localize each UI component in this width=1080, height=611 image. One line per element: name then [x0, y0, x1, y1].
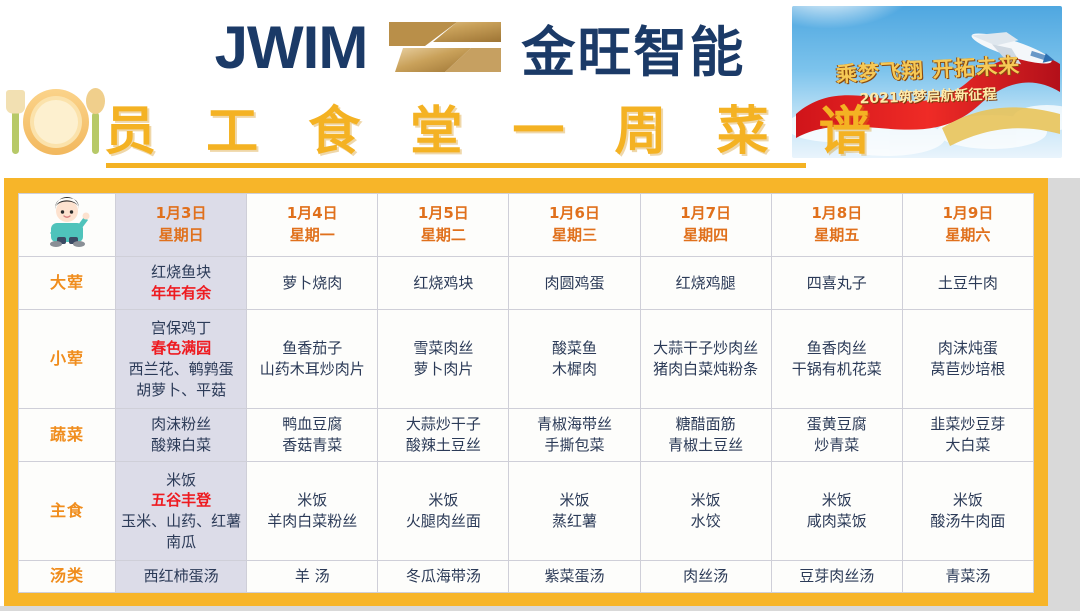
- menu-item: 五谷丰登: [118, 490, 244, 511]
- menu-cell: 蛋黄豆腐炒青菜: [771, 409, 902, 462]
- header-weekday: 星期日: [118, 225, 244, 247]
- table-header-row: 1月3日星期日1月4日星期一1月5日星期二1月6日星期三1月7日星期四1月8日星…: [19, 194, 1034, 257]
- row-label-5: 汤类: [19, 561, 116, 593]
- column-header-3: 1月5日星期二: [378, 194, 509, 257]
- menu-item: 肉沫炖蛋: [905, 338, 1031, 359]
- row-label-text: 小荤: [50, 349, 84, 368]
- row-label-2: 小荤: [19, 310, 116, 409]
- menu-item: 糖醋面筋: [643, 414, 769, 435]
- menu-cell: 鱼香肉丝干锅有机花菜: [771, 310, 902, 409]
- header-weekday: 星期一: [249, 225, 375, 247]
- menu-item: 四喜丸子: [774, 273, 900, 294]
- menu-cell: 宫保鸡丁春色满园西兰花、鹌鹑蛋胡萝卜、平菇: [116, 310, 247, 409]
- column-header-5: 1月7日星期四: [640, 194, 771, 257]
- column-header-6: 1月8日星期五: [771, 194, 902, 257]
- menu-item: 红烧鸡腿: [643, 273, 769, 294]
- table-row: 汤类西红柿蛋汤羊 汤冬瓜海带汤紫菜蛋汤肉丝汤豆芽肉丝汤青菜汤: [19, 561, 1034, 593]
- menu-cell: 青椒海带丝手撕包菜: [509, 409, 640, 462]
- menu-item: 米饭: [249, 490, 375, 511]
- menu-cell: 米饭火腿肉丝面: [378, 462, 509, 561]
- row-label-3: 蔬菜: [19, 409, 116, 462]
- menu-item: 木樨肉: [511, 359, 637, 380]
- menu-cell: 米饭酸汤牛肉面: [902, 462, 1033, 561]
- menu-item: 土豆牛肉: [905, 273, 1031, 294]
- brand-chinese-name: 金旺智能: [521, 8, 745, 87]
- header-date: 1月9日: [905, 203, 1031, 225]
- table-row: 小荤宫保鸡丁春色满园西兰花、鹌鹑蛋胡萝卜、平菇鱼香茄子山药木耳炒肉片雪菜肉丝萝卜…: [19, 310, 1034, 409]
- menu-cell: 米饭五谷丰登玉米、山药、红薯南瓜: [116, 462, 247, 561]
- menu-cell: 米饭羊肉白菜粉丝: [247, 462, 378, 561]
- menu-cell: 雪菜肉丝萝卜肉片: [378, 310, 509, 409]
- header-date: 1月5日: [380, 203, 506, 225]
- row-label-4: 主食: [19, 462, 116, 561]
- header-date: 1月4日: [249, 203, 375, 225]
- table-row: 蔬菜肉沫粉丝酸辣白菜鸭血豆腐香菇青菜大蒜炒干子酸辣土豆丝青椒海带丝手撕包菜糖醋面…: [19, 409, 1034, 462]
- menu-cell: 萝卜烧肉: [247, 257, 378, 310]
- menu-item: 水饺: [643, 511, 769, 532]
- child-chef-icon: [44, 197, 90, 247]
- header-weekday: 星期四: [643, 225, 769, 247]
- menu-item: 羊 汤: [249, 566, 375, 587]
- menu-cell: 红烧鸡腿: [640, 257, 771, 310]
- menu-item: 西红柿蛋汤: [118, 566, 244, 587]
- menu-item: 胡萝卜、平菇: [118, 380, 244, 401]
- menu-item: 羊肉白菜粉丝: [249, 511, 375, 532]
- table-row: 大荤红烧鱼块年年有余萝卜烧肉红烧鸡块肉圆鸡蛋红烧鸡腿四喜丸子土豆牛肉: [19, 257, 1034, 310]
- plate-and-cutlery-icon: [4, 82, 108, 162]
- row-label-1: 大荤: [19, 257, 116, 310]
- menu-item: 酸菜鱼: [511, 338, 637, 359]
- menu-item: 鸭血豆腐: [249, 414, 375, 435]
- menu-item: 手撕包菜: [511, 435, 637, 456]
- menu-item: 青椒土豆丝: [643, 435, 769, 456]
- menu-item: 肉圆鸡蛋: [511, 273, 637, 294]
- menu-cell: 羊 汤: [247, 561, 378, 593]
- menu-item: 鱼香茄子: [249, 338, 375, 359]
- menu-item: 红烧鱼块: [118, 262, 244, 283]
- menu-item: 冬瓜海带汤: [380, 566, 506, 587]
- menu-table-frame: 1月3日星期日1月4日星期一1月5日星期二1月6日星期三1月7日星期四1月8日星…: [4, 178, 1048, 606]
- corner-icon-cell: [19, 194, 116, 257]
- menu-item: 玉米、山药、红薯: [118, 511, 244, 532]
- header-date: 1月3日: [118, 203, 244, 225]
- menu-item: 干锅有机花菜: [774, 359, 900, 380]
- header-weekday: 星期二: [380, 225, 506, 247]
- menu-cell: 米饭咸肉菜饭: [771, 462, 902, 561]
- brand-wordmark: JWIM: [215, 13, 368, 82]
- menu-cell: 鱼香茄子山药木耳炒肉片: [247, 310, 378, 409]
- menu-item: 青椒海带丝: [511, 414, 637, 435]
- menu-item: 火腿肉丝面: [380, 511, 506, 532]
- menu-item: 米饭: [905, 490, 1031, 511]
- menu-item: 肉沫粉丝: [118, 414, 244, 435]
- menu-cell: 土豆牛肉: [902, 257, 1033, 310]
- header-weekday: 星期六: [905, 225, 1031, 247]
- menu-item: 西兰花、鹌鹑蛋: [118, 359, 244, 380]
- menu-item: 咸肉菜饭: [774, 511, 900, 532]
- menu-item: 年年有余: [118, 283, 244, 304]
- header-date: 1月7日: [643, 203, 769, 225]
- header-date: 1月8日: [774, 203, 900, 225]
- menu-cell: 红烧鱼块年年有余: [116, 257, 247, 310]
- table-row: 主食米饭五谷丰登玉米、山药、红薯南瓜米饭羊肉白菜粉丝米饭火腿肉丝面米饭蒸红薯米饭…: [19, 462, 1034, 561]
- menu-cell: 韭菜炒豆芽大白菜: [902, 409, 1033, 462]
- menu-cell: 红烧鸡块: [378, 257, 509, 310]
- menu-cell: 肉沫炖蛋莴苣炒培根: [902, 310, 1033, 409]
- menu-cell: 大蒜炒干子酸辣土豆丝: [378, 409, 509, 462]
- menu-cell: 冬瓜海带汤: [378, 561, 509, 593]
- menu-item: 萝卜烧肉: [249, 273, 375, 294]
- menu-item: 宫保鸡丁: [118, 318, 244, 339]
- menu-poster: JWIM 金旺智能: [0, 0, 1080, 611]
- menu-cell: 四喜丸子: [771, 257, 902, 310]
- weekly-menu-table: 1月3日星期日1月4日星期一1月5日星期二1月6日星期三1月7日星期四1月8日星…: [18, 193, 1034, 593]
- column-header-7: 1月9日星期六: [902, 194, 1033, 257]
- menu-item: 鱼香肉丝: [774, 338, 900, 359]
- row-label-text: 主食: [50, 501, 84, 520]
- menu-item: 炒青菜: [774, 435, 900, 456]
- menu-cell: 鸭血豆腐香菇青菜: [247, 409, 378, 462]
- menu-item: 米饭: [511, 490, 637, 511]
- menu-item: 大白菜: [905, 435, 1031, 456]
- menu-item: 酸辣土豆丝: [380, 435, 506, 456]
- menu-item: 猪肉白菜炖粉条: [643, 359, 769, 380]
- menu-item: 酸汤牛肉面: [905, 511, 1031, 532]
- menu-cell: 米饭蒸红薯: [509, 462, 640, 561]
- menu-cell: 紫菜蛋汤: [509, 561, 640, 593]
- menu-item: 米饭: [118, 470, 244, 491]
- menu-item: 紫菜蛋汤: [511, 566, 637, 587]
- menu-item: 南瓜: [118, 532, 244, 553]
- menu-item: 萝卜肉片: [380, 359, 506, 380]
- column-header-4: 1月6日星期三: [509, 194, 640, 257]
- menu-item: 米饭: [643, 490, 769, 511]
- jwim-chevron-logo-icon: [385, 16, 503, 78]
- menu-item: 大蒜干子炒肉丝: [643, 338, 769, 359]
- menu-cell: 豆芽肉丝汤: [771, 561, 902, 593]
- menu-item: 蛋黄豆腐: [774, 414, 900, 435]
- column-header-1: 1月3日星期日: [116, 194, 247, 257]
- menu-item: 肉丝汤: [643, 566, 769, 587]
- menu-item: 山药木耳炒肉片: [249, 359, 375, 380]
- poster-header: JWIM 金旺智能: [0, 0, 1080, 178]
- menu-item: 大蒜炒干子: [380, 414, 506, 435]
- menu-cell: 肉圆鸡蛋: [509, 257, 640, 310]
- menu-item: 春色满园: [118, 338, 244, 359]
- menu-item: 雪菜肉丝: [380, 338, 506, 359]
- menu-item: 青菜汤: [905, 566, 1031, 587]
- menu-item: 米饭: [380, 490, 506, 511]
- menu-cell: 糖醋面筋青椒土豆丝: [640, 409, 771, 462]
- menu-item: 韭菜炒豆芽: [905, 414, 1031, 435]
- menu-cell: 大蒜干子炒肉丝猪肉白菜炖粉条: [640, 310, 771, 409]
- menu-item: 米饭: [774, 490, 900, 511]
- menu-cell: 肉沫粉丝酸辣白菜: [116, 409, 247, 462]
- bottom-gutter: [0, 606, 1080, 611]
- column-header-2: 1月4日星期一: [247, 194, 378, 257]
- menu-cell: 酸菜鱼木樨肉: [509, 310, 640, 409]
- menu-item: 豆芽肉丝汤: [774, 566, 900, 587]
- menu-cell: 西红柿蛋汤: [116, 561, 247, 593]
- header-date: 1月6日: [511, 203, 637, 225]
- title-underline: [106, 163, 806, 168]
- menu-item: 蒸红薯: [511, 511, 637, 532]
- row-label-text: 蔬菜: [50, 425, 84, 444]
- header-weekday: 星期五: [774, 225, 900, 247]
- row-label-text: 大荤: [50, 273, 84, 292]
- row-label-text: 汤类: [50, 566, 84, 585]
- menu-cell: 米饭水饺: [640, 462, 771, 561]
- menu-item: 红烧鸡块: [380, 273, 506, 294]
- right-gutter: [1048, 178, 1080, 611]
- menu-item: 香菇青菜: [249, 435, 375, 456]
- menu-cell: 青菜汤: [902, 561, 1033, 593]
- menu-cell: 肉丝汤: [640, 561, 771, 593]
- menu-item: 酸辣白菜: [118, 435, 244, 456]
- page-title: 员 工 食 堂 一 周 菜 谱: [104, 88, 887, 164]
- menu-item: 莴苣炒培根: [905, 359, 1031, 380]
- header-weekday: 星期三: [511, 225, 637, 247]
